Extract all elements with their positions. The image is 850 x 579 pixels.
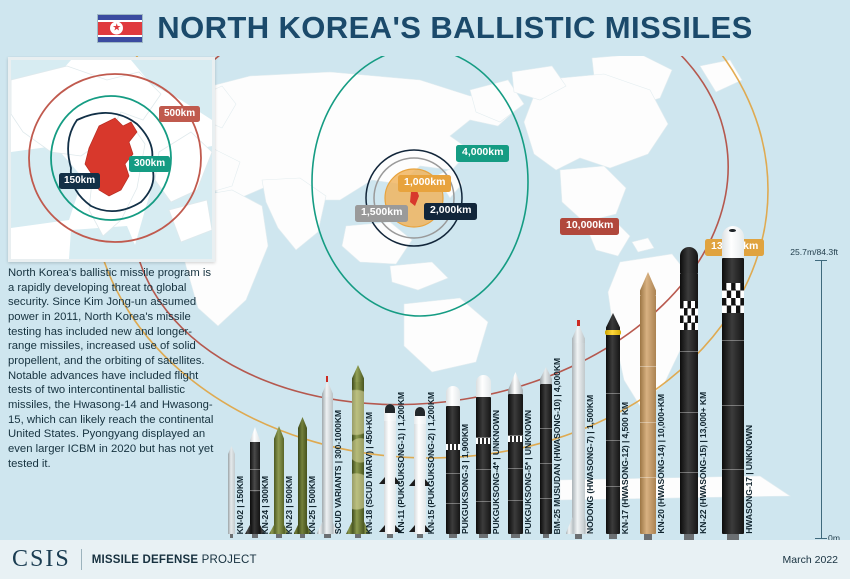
missile-label: KN-23 | 500KM — [285, 476, 294, 534]
missile-tip-red — [326, 376, 328, 382]
missile-seam — [540, 498, 552, 500]
scale-tick-top — [815, 260, 827, 261]
checkerboard-band — [680, 301, 698, 330]
csis-logo: CSIS — [12, 546, 71, 573]
range-pill-4000km: 4,000km — [456, 145, 509, 162]
missile-body: KN-24 | 300KM — [250, 442, 260, 534]
missile-15[interactable]: KN-20 (HWASONG-14) | 10,000+KM — [640, 295, 656, 534]
missile-body: KN-23 | 500KM — [274, 441, 284, 534]
missile-body: PUKGUKSONG-5* | UNKNOWN — [508, 394, 523, 534]
missile-seam — [446, 473, 460, 475]
missile-nozzle — [355, 534, 362, 538]
missile-nozzle — [324, 534, 330, 538]
missile-nozzle — [575, 534, 582, 539]
missile-nose — [476, 375, 491, 397]
inset-pill-500km: 500km — [159, 106, 200, 122]
publication-date: March 2022 — [783, 554, 838, 566]
missile-collar — [605, 330, 621, 335]
missile-nozzle — [609, 534, 617, 539]
missile-label: KN-17 (HWASONG-12) | 4,500 KM — [621, 402, 630, 534]
flag-star-icon: ★ — [110, 22, 123, 35]
missile-fin-left — [317, 522, 323, 534]
missile-body: BM-25 MUSUDAN (HWASONG-10) | 4,000KM — [540, 384, 552, 534]
infographic-root: 1,000km 1,500km 2,000km 4,000km 10,000km… — [0, 0, 850, 579]
missile-8[interactable]: KN-15 (PUKGUKSONG-2) | 1,200KM — [414, 424, 426, 534]
missile-tip — [385, 404, 394, 413]
missile-seam — [540, 463, 552, 465]
missile-label: PUKGUKSONG-3 | 1,900KM — [461, 424, 470, 534]
scale-max-label: 25.7m/84.3ft — [790, 247, 838, 257]
missile-13[interactable]: NODONG (HWASONG-7) | 1,500KM — [572, 343, 585, 534]
missile-seam — [476, 469, 491, 471]
missile-nozzle — [276, 534, 282, 538]
missile-seam — [540, 428, 552, 430]
missile-nozzle — [479, 534, 487, 538]
missile-body: HWASONG-17 | UNKNOWN — [722, 258, 744, 534]
missile-fin-left — [269, 524, 275, 534]
missile-nose — [352, 365, 364, 382]
missile-4[interactable]: KN-25 | 500KM — [298, 430, 307, 534]
missile-nose — [640, 272, 656, 295]
missile-body: NODONG (HWASONG-7) | 1,500KM — [572, 343, 585, 534]
stage-ring — [446, 444, 460, 450]
mdp-light-text: PROJECT — [198, 554, 256, 566]
missile-fin-left — [245, 524, 251, 534]
missile-seam — [680, 472, 698, 474]
missile-seam — [640, 477, 656, 479]
missile-tip-red — [577, 320, 579, 326]
missile-nozzle — [511, 534, 519, 538]
missile-10[interactable]: PUKGUKSONG-4* | UNKNOWN — [476, 397, 491, 534]
missile-label: KN-25 | 500KM — [308, 476, 317, 534]
camo-pattern — [352, 382, 364, 534]
missile-fin-left-lower — [379, 525, 385, 532]
north-korea-flag-icon: ★ — [97, 14, 143, 43]
missile-body: KN-25 | 500KM — [298, 430, 307, 534]
missile-14[interactable]: KN-17 (HWASONG-12) | 4,500 KM — [606, 333, 620, 534]
missile-3[interactable]: KN-23 | 500KM — [274, 441, 284, 534]
range-pill-2000km: 2,000km — [424, 203, 477, 220]
missile-body: SCUD VARIANTS | 300-1000KM — [322, 397, 333, 534]
missile-seam — [606, 440, 620, 442]
range-pill-1500km: 1,500km — [355, 205, 408, 222]
missile-label: HWASONG-17 | UNKNOWN — [745, 425, 754, 534]
missile-nose — [446, 386, 460, 406]
inset-pill-300km: 300km — [129, 156, 170, 172]
missile-nose — [228, 446, 235, 456]
missile-seam — [606, 486, 620, 488]
missile-17[interactable]: HWASONG-17 | UNKNOWN — [722, 258, 744, 534]
missile-nozzle — [417, 534, 424, 538]
missile-nozzle — [230, 534, 234, 538]
missile-body: KN-20 (HWASONG-14) | 10,000+KM — [640, 295, 656, 534]
missile-seam — [606, 393, 620, 395]
missile-nose — [298, 417, 307, 430]
inset-pill-150km: 150km — [59, 173, 100, 189]
missile-seam — [680, 351, 698, 353]
checkerboard-band — [722, 283, 744, 313]
missile-fin-left-lower — [409, 525, 415, 532]
missile-nozzle — [449, 534, 457, 538]
missile-label: KN-15 (PUKGUKSONG-2) | 1,200KM — [427, 392, 436, 534]
missile-label: KN-20 (HWASONG-14) | 10,000+KM — [657, 394, 666, 534]
missile-seam — [722, 340, 744, 342]
missile-body: KN-15 (PUKGUKSONG-2) | 1,200KM — [414, 424, 426, 534]
missile-seam — [508, 468, 523, 470]
lower-stage — [250, 492, 260, 534]
missile-fin-left — [294, 524, 299, 534]
missile-2[interactable]: KN-24 | 300KM — [250, 442, 260, 534]
stage-ring — [508, 436, 523, 442]
missile-lineup: KN-02 | 150KM KN-24 | 300KM KN-23 | 500K… — [0, 240, 850, 540]
missile-16[interactable]: KN-22 (HWASONG-15) | 13,000+ KM — [680, 273, 698, 534]
missile-seam — [722, 405, 744, 407]
missile-seam — [640, 422, 656, 424]
missile-body: PUKGUKSONG-3 | 1,900KM — [446, 406, 460, 534]
missile-nose — [540, 367, 552, 384]
footer-divider — [81, 549, 82, 570]
missile-5[interactable]: SCUD VARIANTS | 300-1000KM — [322, 397, 333, 534]
missile-label: NODONG (HWASONG-7) | 1,500KM — [586, 395, 595, 534]
mdp-bold-text: MISSILE DEFENSE — [92, 554, 199, 566]
page-footer: CSIS MISSILE DEFENSE PROJECT March 2022 — [0, 540, 850, 579]
missile-nose — [508, 372, 523, 394]
missile-label: PUKGUKSONG-5* | UNKNOWN — [524, 410, 533, 534]
missile-body: KN-11 (PUKGUKSONG-1) | 1,200KM — [384, 421, 396, 534]
missile-body: KN-02 | 150KM — [228, 456, 235, 534]
missile-body: KN-18 (SCUD MARV) | 450+KM — [352, 382, 364, 534]
missile-nozzle — [543, 534, 550, 538]
missile-label: KN-24 | 300KM — [261, 476, 270, 534]
missile-seam — [640, 366, 656, 368]
missile-nose — [274, 426, 284, 441]
scale-axis-line — [821, 260, 822, 538]
missile-label: BM-25 MUSUDAN (HWASONG-10) | 4,000KM — [553, 358, 562, 534]
missile-seam — [722, 469, 744, 471]
range-pill-10000km: 10,000km — [560, 218, 619, 235]
missile-fin-left — [379, 477, 385, 484]
missile-6[interactable]: KN-18 (SCUD MARV) | 450+KM — [352, 382, 364, 534]
stage-ring — [476, 438, 491, 444]
missile-nose — [250, 427, 260, 442]
missile-label: KN-11 (PUKGUKSONG-1) | 1,200KM — [397, 392, 406, 534]
missile-seam — [446, 503, 460, 505]
missile-1[interactable]: KN-02 | 150KM — [228, 456, 235, 534]
missile-label: SCUD VARIANTS | 300-1000KM — [334, 410, 343, 534]
korea-range-inset-map: 500km 300km 150km — [8, 57, 215, 262]
scale-tick-bottom — [815, 538, 827, 539]
missile-seam — [476, 501, 491, 503]
page-title: NORTH KOREA'S BALLISTIC MISSILES — [157, 10, 752, 46]
missile-seam — [680, 412, 698, 414]
range-pill-1000km: 1,000km — [398, 175, 451, 192]
missile-nozzle — [387, 534, 394, 538]
missile-body: PUKGUKSONG-4* | UNKNOWN — [476, 397, 491, 534]
missile-11[interactable]: PUKGUKSONG-5* | UNKNOWN — [508, 394, 523, 534]
page-header: ★ NORTH KOREA'S BALLISTIC MISSILES — [0, 0, 850, 56]
missile-body: KN-22 (HWASONG-15) | 13,000+ KM — [680, 273, 698, 534]
missile-nose — [572, 324, 585, 343]
missile-nose — [322, 381, 333, 397]
missile-label: KN-02 | 150KM — [236, 476, 245, 534]
missile-nose — [680, 247, 698, 273]
missile-seam — [250, 469, 260, 471]
missile-12[interactable]: BM-25 MUSUDAN (HWASONG-10) | 4,000KM — [540, 384, 552, 534]
missile-fin-left — [409, 479, 415, 486]
missile-defense-project-label: MISSILE DEFENSE PROJECT — [92, 554, 257, 566]
missile-body: KN-17 (HWASONG-12) | 4,500 KM — [606, 333, 620, 534]
missile-fin-left — [566, 517, 573, 534]
missile-nozzle — [252, 534, 258, 538]
missile-label: PUKGUKSONG-4* | UNKNOWN — [492, 410, 501, 534]
missile-tip — [415, 407, 424, 416]
missile-7[interactable]: KN-11 (PUKGUKSONG-1) | 1,200KM — [384, 421, 396, 534]
missile-nozzle — [300, 534, 305, 538]
missile-9[interactable]: PUKGUKSONG-3 | 1,900KM — [446, 406, 460, 534]
missile-label: KN-18 (SCUD MARV) | 450+KM — [365, 412, 374, 534]
missile-label: KN-22 (HWASONG-15) | 13,000+ KM — [699, 392, 708, 534]
missile-seam — [250, 490, 260, 492]
missile-seam — [508, 500, 523, 502]
